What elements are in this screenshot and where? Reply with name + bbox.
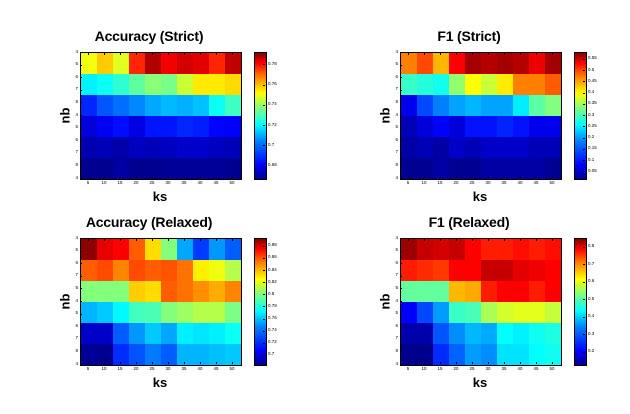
heatmap-cell — [113, 323, 129, 344]
y-tick-mark — [80, 251, 82, 252]
heatmap-cell — [113, 53, 129, 74]
heatmap-cell — [129, 158, 145, 179]
colorbar-tick-mark — [263, 85, 265, 86]
heatmap-cell — [225, 158, 241, 179]
heatmap-cell — [465, 239, 481, 260]
heatmap-cell — [129, 323, 145, 344]
x-tick-mark-top — [136, 53, 137, 55]
panel-title: F1 (Relaxed) — [378, 214, 560, 230]
x-tick-mark — [152, 176, 153, 178]
heatmap-cell — [193, 158, 209, 179]
heatmap-cell — [177, 74, 193, 95]
heatmap-cell — [225, 137, 241, 158]
heatmap-cell — [193, 281, 209, 302]
heatmap-cell — [433, 53, 449, 74]
heatmap-cell — [161, 344, 177, 365]
heatmap-cell — [145, 281, 161, 302]
heatmap-cell — [401, 239, 417, 260]
x-tick-label: 5 — [80, 181, 96, 186]
y-tick-label: 4 — [70, 362, 78, 367]
heatmap-cell — [417, 302, 433, 323]
colorbar — [574, 52, 587, 180]
colorbar-tick-mark — [263, 306, 265, 307]
heatmap-axes — [400, 238, 562, 366]
x-tick-mark-top — [200, 239, 201, 241]
heatmap-cell — [145, 116, 161, 137]
y-tick-label: 8 — [390, 163, 398, 168]
heatmap-cell — [161, 74, 177, 95]
heatmap-cell — [497, 281, 513, 302]
y-tick-mark — [400, 140, 402, 141]
x-tick-mark-top — [184, 239, 185, 241]
heatmap-cell — [97, 239, 113, 260]
heatmap-cell — [401, 53, 417, 74]
x-tick-mark-top — [488, 239, 489, 241]
x-tick-mark — [504, 362, 505, 364]
heatmap-cell — [513, 302, 529, 323]
x-tick-mark — [536, 176, 537, 178]
heatmap-cell — [481, 344, 497, 365]
heatmap-cell — [545, 323, 561, 344]
heatmap-cell — [481, 158, 497, 179]
heatmap-cell — [433, 95, 449, 116]
x-tick-label: 25 — [464, 367, 480, 372]
x-tick-label: 20 — [128, 181, 144, 186]
heatmap-cell — [97, 302, 113, 323]
x-tick-mark — [408, 362, 409, 364]
x-tick-mark — [168, 362, 169, 364]
x-tick-label: 10 — [416, 181, 432, 186]
heatmap-cell — [193, 95, 209, 116]
heatmap-cell — [177, 53, 193, 74]
heatmap-cell — [225, 239, 241, 260]
heatmap-cell — [513, 158, 529, 179]
heatmap-cell — [113, 74, 129, 95]
heatmap-cell — [497, 137, 513, 158]
heatmap-cell — [177, 239, 193, 260]
heatmap-cell — [177, 158, 193, 179]
x-tick-label: 40 — [192, 181, 208, 186]
heatmap-cell — [209, 281, 225, 302]
colorbar-tick-mark — [263, 145, 265, 146]
heatmap-cell — [465, 137, 481, 158]
heatmap-cell — [97, 281, 113, 302]
heatmap-cell — [129, 239, 145, 260]
x-tick-mark-top — [120, 53, 121, 55]
x-tick-mark-top — [504, 53, 505, 55]
y-tick-mark — [400, 238, 402, 239]
heatmap-cell — [465, 260, 481, 281]
heatmap-cell — [129, 95, 145, 116]
x-tick-label: 45 — [208, 367, 224, 372]
heatmap-cell — [145, 74, 161, 95]
colorbar-tick-mark — [583, 104, 585, 105]
colorbar-tick-mark — [263, 355, 265, 356]
y-tick-mark — [400, 52, 402, 53]
heatmap-cell — [225, 74, 241, 95]
heatmap-cell — [145, 302, 161, 323]
x-tick-mark-top — [536, 239, 537, 241]
heatmap-cell — [401, 260, 417, 281]
x-tick-label: 35 — [496, 367, 512, 372]
y-tick-mark — [400, 339, 402, 340]
figure-canvas: Accuracy (Strict)45678456784510152025303… — [0, 0, 630, 414]
colorbar-tick-label: 0.25 — [588, 124, 597, 129]
y-tick-mark — [80, 153, 82, 154]
x-axis-label: ks — [400, 189, 560, 204]
x-tick-mark-top — [440, 53, 441, 55]
heatmap-cell — [449, 53, 465, 74]
x-tick-mark — [472, 362, 473, 364]
x-tick-label: 5 — [400, 367, 416, 372]
heatmap-cell — [177, 137, 193, 158]
heatmap-grid — [401, 53, 561, 179]
heatmap-cell — [529, 302, 545, 323]
y-tick-mark — [80, 238, 82, 239]
heatmap-cell — [145, 239, 161, 260]
heatmap-cell — [401, 281, 417, 302]
y-tick-mark — [400, 65, 402, 66]
y-tick-mark — [80, 364, 82, 365]
y-tick-label: 5 — [70, 248, 78, 253]
x-tick-label: 30 — [160, 367, 176, 372]
x-tick-mark-top — [424, 239, 425, 241]
heatmap-cell — [209, 95, 225, 116]
heatmap-cell — [113, 158, 129, 179]
heatmap-cell — [177, 344, 193, 365]
y-tick-mark — [400, 178, 402, 179]
colorbar-tick-mark — [583, 138, 585, 139]
colorbar-tick-label: 0.2 — [588, 349, 594, 354]
heatmap-cell — [97, 260, 113, 281]
x-tick-label: 45 — [528, 367, 544, 372]
y-tick-label: 6 — [70, 261, 78, 266]
heatmap-cell — [481, 53, 497, 74]
y-tick-mark — [400, 276, 402, 277]
x-tick-label: 25 — [464, 181, 480, 186]
heatmap-cell — [177, 302, 193, 323]
heatmap-cell — [401, 323, 417, 344]
heatmap-cell — [129, 281, 145, 302]
x-tick-mark — [472, 176, 473, 178]
heatmap-cell — [529, 158, 545, 179]
heatmap-cell — [145, 95, 161, 116]
colorbar-tick-label: 0.7 — [588, 262, 594, 267]
y-tick-mark — [400, 153, 402, 154]
colorbar-gradient — [255, 53, 266, 179]
heatmap-cell — [529, 116, 545, 137]
heatmap-cell — [497, 95, 513, 116]
colorbar-tick-label: 0.05 — [588, 169, 597, 174]
heatmap-cell — [449, 344, 465, 365]
heatmap-cell — [513, 344, 529, 365]
y-tick-label: 4 — [70, 50, 78, 55]
x-axis-label: ks — [80, 375, 240, 390]
x-tick-mark — [184, 362, 185, 364]
heatmap-cell — [465, 53, 481, 74]
colorbar-tick-label: 0.4 — [588, 314, 594, 319]
y-tick-label: 6 — [390, 324, 398, 329]
x-tick-label: 35 — [176, 367, 192, 372]
x-tick-label: 15 — [432, 181, 448, 186]
colorbar-tick-mark — [583, 81, 585, 82]
y-axis-label: nb — [378, 101, 393, 131]
heatmap-cell — [225, 344, 241, 365]
colorbar-tick-label: 0.7 — [268, 143, 274, 148]
heatmap-cell — [417, 344, 433, 365]
x-tick-mark-top — [104, 53, 105, 55]
heatmap-cell — [225, 260, 241, 281]
heatmap-cell — [81, 239, 97, 260]
y-tick-mark — [400, 102, 402, 103]
x-tick-mark-top — [88, 239, 89, 241]
heatmap-cell — [449, 323, 465, 344]
x-tick-mark-top — [216, 239, 217, 241]
heatmap-cell — [193, 344, 209, 365]
heatmap-cell — [481, 260, 497, 281]
y-tick-label: 8 — [390, 349, 398, 354]
y-tick-label: 6 — [70, 138, 78, 143]
heatmap-cell — [481, 116, 497, 137]
heatmap-cell — [193, 74, 209, 95]
x-tick-mark — [232, 176, 233, 178]
x-tick-mark-top — [168, 239, 169, 241]
heatmap-cell — [113, 281, 129, 302]
heatmap-cell — [545, 137, 561, 158]
heatmap-cell — [177, 95, 193, 116]
x-tick-mark-top — [456, 239, 457, 241]
x-tick-label: 5 — [400, 181, 416, 186]
heatmap-cell — [81, 137, 97, 158]
colorbar-tick-mark — [583, 59, 585, 60]
y-tick-mark — [400, 364, 402, 365]
heatmap-cell — [545, 344, 561, 365]
colorbar-tick-mark — [583, 149, 585, 150]
heatmap-cell — [401, 95, 417, 116]
colorbar-tick-mark — [263, 331, 265, 332]
heatmap-cell — [225, 323, 241, 344]
colorbar-tick-mark — [583, 93, 585, 94]
heatmap-cell — [545, 116, 561, 137]
heatmap-cell — [513, 281, 529, 302]
colorbar-tick-mark — [583, 299, 585, 300]
heatmap-cell — [161, 158, 177, 179]
heatmap-cell — [177, 260, 193, 281]
y-tick-label: 7 — [390, 336, 398, 341]
y-tick-mark — [80, 77, 82, 78]
y-tick-mark — [80, 128, 82, 129]
x-tick-mark — [408, 176, 409, 178]
y-tick-mark — [80, 276, 82, 277]
heatmap-cell — [545, 281, 561, 302]
heatmap-cell — [529, 95, 545, 116]
heatmap-cell — [209, 344, 225, 365]
x-tick-mark-top — [120, 239, 121, 241]
x-tick-label: 15 — [432, 367, 448, 372]
y-tick-mark — [400, 251, 402, 252]
x-tick-mark — [488, 362, 489, 364]
y-tick-label: 4 — [390, 50, 398, 55]
heatmap-cell — [401, 344, 417, 365]
heatmap-cell — [225, 95, 241, 116]
heatmap-cell — [465, 344, 481, 365]
y-tick-label: 7 — [70, 336, 78, 341]
heatmap-panel: Accuracy (Relaxed)4567845678451015202530… — [58, 212, 310, 398]
heatmap-cell — [129, 260, 145, 281]
x-tick-mark — [200, 176, 201, 178]
heatmap-cell — [161, 239, 177, 260]
y-tick-label: 4 — [70, 176, 78, 181]
x-tick-label: 40 — [512, 181, 528, 186]
heatmap-cell — [529, 344, 545, 365]
heatmap-cell — [465, 95, 481, 116]
heatmap-cell — [545, 53, 561, 74]
y-tick-mark — [80, 52, 82, 53]
heatmap-cell — [481, 95, 497, 116]
heatmap-cell — [81, 302, 97, 323]
x-tick-mark — [88, 362, 89, 364]
colorbar-tick-label: 0.76 — [268, 316, 277, 321]
x-tick-mark-top — [136, 239, 137, 241]
panel-title: Accuracy (Relaxed) — [58, 214, 240, 230]
x-tick-mark — [88, 176, 89, 178]
colorbar-tick-mark — [583, 70, 585, 71]
heatmap-cell — [433, 74, 449, 95]
heatmap-cell — [497, 344, 513, 365]
heatmap-cell — [417, 137, 433, 158]
x-tick-mark-top — [152, 53, 153, 55]
x-tick-mark — [200, 362, 201, 364]
y-tick-mark — [80, 102, 82, 103]
x-tick-mark — [120, 362, 121, 364]
heatmap-cell — [529, 53, 545, 74]
y-tick-mark — [80, 263, 82, 264]
heatmap-cell — [209, 137, 225, 158]
heatmap-cell — [481, 323, 497, 344]
heatmap-cell — [449, 239, 465, 260]
colorbar-tick-mark — [263, 282, 265, 283]
colorbar-tick-label: 0.4 — [588, 90, 594, 95]
colorbar-tick-mark — [263, 294, 265, 295]
colorbar-tick-label: 0.76 — [268, 82, 277, 87]
y-tick-label: 5 — [390, 62, 398, 67]
heatmap-cell — [433, 281, 449, 302]
heatmap-cell — [433, 302, 449, 323]
heatmap-cell — [113, 344, 129, 365]
x-tick-label: 50 — [224, 181, 240, 186]
heatmap-cell — [161, 281, 177, 302]
heatmap-cell — [481, 302, 497, 323]
heatmap-cell — [81, 95, 97, 116]
heatmap-axes — [80, 52, 242, 180]
y-axis-label: nb — [58, 101, 73, 131]
x-tick-mark-top — [520, 53, 521, 55]
y-tick-mark — [80, 301, 82, 302]
heatmap-cell — [497, 302, 513, 323]
x-axis-label: ks — [80, 189, 240, 204]
colorbar-tick-mark — [583, 282, 585, 283]
colorbar-tick-mark — [263, 270, 265, 271]
y-tick-label: 6 — [390, 138, 398, 143]
heatmap-cell — [129, 53, 145, 74]
heatmap-cell — [129, 344, 145, 365]
heatmap-cell — [465, 302, 481, 323]
heatmap-panel: F1 (Strict)45678456784510152025303540455… — [378, 26, 630, 212]
heatmap-cell — [449, 116, 465, 137]
x-tick-mark — [520, 362, 521, 364]
y-tick-label: 7 — [70, 150, 78, 155]
y-tick-mark — [80, 326, 82, 327]
heatmap-cell — [81, 260, 97, 281]
x-tick-mark — [232, 362, 233, 364]
colorbar-tick-label: 0.5 — [588, 297, 594, 302]
panel-title: Accuracy (Strict) — [58, 28, 240, 44]
heatmap-cell — [513, 239, 529, 260]
y-tick-mark — [80, 288, 82, 289]
x-tick-mark — [120, 176, 121, 178]
heatmap-cell — [97, 323, 113, 344]
colorbar-tick-label: 0.82 — [268, 280, 277, 285]
colorbar-tick-label: 0.1 — [588, 158, 594, 163]
colorbar-tick-label: 0.72 — [268, 340, 277, 345]
heatmap-cell — [449, 260, 465, 281]
colorbar-tick-mark — [583, 171, 585, 172]
heatmap-cell — [225, 116, 241, 137]
x-tick-mark — [216, 176, 217, 178]
x-tick-label: 15 — [112, 367, 128, 372]
colorbar — [254, 238, 267, 366]
colorbar-tick-mark — [583, 160, 585, 161]
colorbar-tick-mark — [263, 166, 265, 167]
x-tick-mark — [168, 176, 169, 178]
heatmap-cell — [193, 302, 209, 323]
heatmap-cell — [545, 302, 561, 323]
heatmap-cell — [433, 323, 449, 344]
x-tick-mark-top — [200, 53, 201, 55]
y-tick-mark — [80, 351, 82, 352]
heatmap-cell — [513, 323, 529, 344]
x-tick-mark-top — [456, 53, 457, 55]
heatmap-axes — [400, 52, 562, 180]
heatmap-cell — [529, 74, 545, 95]
y-tick-mark — [400, 351, 402, 352]
heatmap-cell — [209, 260, 225, 281]
heatmap-cell — [417, 53, 433, 74]
heatmap-cell — [209, 158, 225, 179]
heatmap-cell — [209, 239, 225, 260]
heatmap-cell — [97, 95, 113, 116]
colorbar-tick-mark — [263, 105, 265, 106]
colorbar-tick-label: 0.84 — [268, 268, 277, 273]
heatmap-cell — [81, 344, 97, 365]
colorbar-tick-label: 0.6 — [588, 279, 594, 284]
heatmap-cell — [401, 116, 417, 137]
x-tick-label: 5 — [80, 367, 96, 372]
x-tick-label: 30 — [480, 367, 496, 372]
heatmap-cell — [401, 137, 417, 158]
x-tick-mark — [456, 362, 457, 364]
colorbar-tick-label: 0.55 — [588, 56, 597, 61]
x-tick-mark — [440, 176, 441, 178]
x-tick-label: 20 — [128, 367, 144, 372]
heatmap-cell — [449, 281, 465, 302]
heatmap-cell — [401, 74, 417, 95]
x-tick-mark-top — [552, 239, 553, 241]
colorbar-tick-label: 0.72 — [268, 123, 277, 128]
heatmap-cell — [513, 74, 529, 95]
x-axis-label: ks — [400, 375, 560, 390]
x-tick-mark-top — [232, 53, 233, 55]
